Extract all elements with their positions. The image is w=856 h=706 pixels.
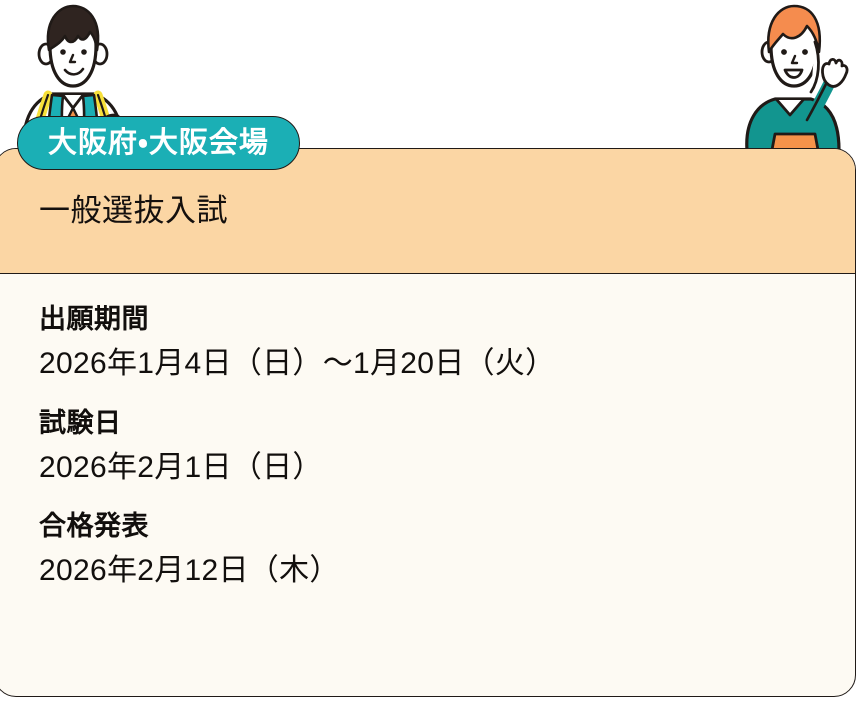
exam-date-label: 試験日 bbox=[39, 408, 811, 439]
result-announcement-value: 2026年2月12日（木） bbox=[39, 554, 811, 589]
exam-schedule-card: 一般選抜入試 出願期間 2026年1月4日（日）〜1月20日（火） 試験日 20… bbox=[0, 148, 856, 697]
result-announcement-label: 合格発表 bbox=[39, 511, 811, 542]
exam-date-value: 2026年2月1日（日） bbox=[39, 451, 811, 486]
venue-badge-label: 大阪府・大阪会場 bbox=[48, 129, 269, 158]
venue-badge: 大阪府・大阪会場 bbox=[17, 116, 300, 170]
student-girl-illustration bbox=[735, 0, 856, 155]
info-block-exam-date: 試験日 2026年2月1日（日） bbox=[39, 408, 811, 486]
exam-type-title: 一般選抜入試 bbox=[0, 192, 228, 229]
info-block-application-period: 出願期間 2026年1月4日（日）〜1月20日（火） bbox=[39, 304, 811, 382]
card-body: 出願期間 2026年1月4日（日）〜1月20日（火） 試験日 2026年2月1日… bbox=[0, 274, 855, 589]
info-block-result-announcement: 合格発表 2026年2月12日（木） bbox=[39, 511, 811, 589]
exam-schedule-card-page: 一般選抜入試 出願期間 2026年1月4日（日）〜1月20日（火） 試験日 20… bbox=[0, 0, 856, 706]
application-period-value: 2026年1月4日（日）〜1月20日（火） bbox=[39, 347, 811, 382]
application-period-label: 出願期間 bbox=[39, 304, 811, 335]
